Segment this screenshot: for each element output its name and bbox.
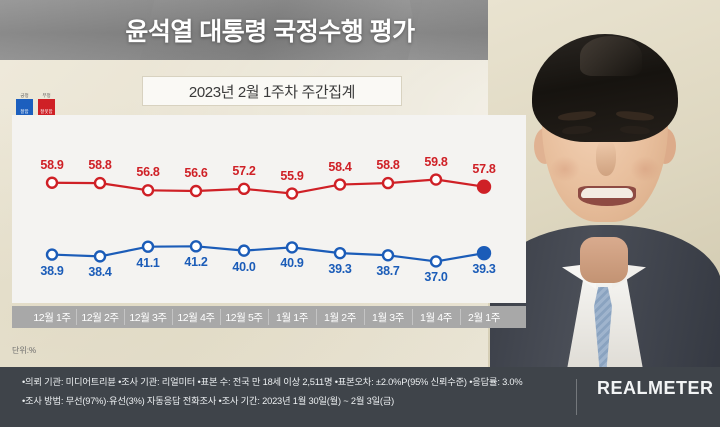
legend-label-negative: 잘못함: [40, 110, 52, 115]
data-label: 39.3: [472, 262, 495, 276]
axis-separator: [316, 309, 317, 325]
axis-tick-label: 1월 4주: [420, 306, 452, 328]
legend-item-negative: 부정 잘못함: [38, 99, 55, 115]
data-label: 40.0: [232, 260, 255, 274]
axis-tick-label: 2월 1주: [468, 306, 500, 328]
data-point: [143, 242, 153, 252]
data-point: [431, 175, 441, 185]
data-label: 41.1: [136, 256, 159, 270]
series-line-부정평가: [52, 180, 484, 194]
photo-cheek-left: [550, 156, 580, 182]
photo-teeth: [581, 188, 633, 198]
series-line-긍정평가: [52, 246, 484, 261]
axis-separator: [412, 309, 413, 325]
photo-hair-highlight: [580, 36, 642, 76]
axis-separator: [172, 309, 173, 325]
data-point: [95, 178, 105, 188]
legend-item-positive: 긍정 잘함: [16, 99, 33, 115]
data-label: 38.9: [40, 264, 63, 278]
data-label: 56.6: [184, 166, 207, 180]
data-label: 59.8: [424, 155, 447, 169]
data-point: [478, 247, 490, 259]
axis-separator: [124, 309, 125, 325]
chart-x-axis: 12월 1주12월 2주12월 3주12월 4주12월 5주1월 1주1월 2주…: [12, 306, 526, 328]
unit-label: 단위:%: [12, 345, 36, 356]
data-point: [383, 250, 393, 260]
legend-caption-positive: 긍정: [20, 94, 28, 99]
axis-tick-label: 12월 2주: [81, 306, 118, 328]
axis-tick-label: 12월 3주: [129, 306, 166, 328]
axis-separator: [364, 309, 365, 325]
data-point: [287, 189, 297, 199]
data-point: [95, 251, 105, 261]
data-label: 58.4: [328, 160, 351, 174]
legend-label-positive: 잘함: [20, 110, 28, 115]
data-point: [383, 178, 393, 188]
data-label: 55.9: [280, 169, 303, 183]
axis-tick-label: 1월 2주: [324, 306, 356, 328]
axis-separator: [76, 309, 77, 325]
data-point: [478, 181, 490, 193]
legend-caption-negative: 부정: [42, 94, 50, 99]
data-label: 56.8: [136, 165, 159, 179]
data-point: [431, 256, 441, 266]
photo-nose: [596, 140, 616, 176]
footer-divider: [576, 379, 577, 415]
chart-legend: 긍정 잘함 부정 잘못함: [16, 99, 55, 115]
data-point: [335, 248, 345, 258]
data-point: [287, 242, 297, 252]
axis-tick-label: 1월 1주: [276, 306, 308, 328]
data-label: 58.8: [88, 158, 111, 172]
photo-cheek-right: [630, 156, 660, 182]
chart-card: 58.958.856.856.657.255.958.458.859.857.8…: [12, 115, 526, 303]
realmeter-logo: REALMETER: [597, 378, 714, 399]
photo-mouth: [578, 186, 636, 206]
data-point: [143, 185, 153, 195]
data-point: [47, 250, 57, 260]
data-label: 57.2: [232, 164, 255, 178]
data-point: [47, 178, 57, 188]
data-label: 38.4: [88, 265, 111, 279]
data-label: 40.9: [280, 256, 303, 270]
data-point: [191, 241, 201, 251]
footer-methodology: •의뢰 기관: 미디어트리뷴 •조사 기관: 리얼미터 •표본 수: 전국 만 …: [22, 376, 522, 408]
data-label: 37.0: [424, 270, 447, 284]
footer-line-2: •조사 방법: 무선(97%)·유선(3%) 자동응답 전화조사 •조사 기간:…: [22, 395, 522, 408]
poll-infographic: 윤석열 대통령 국정수행 평가 긍정 잘함 부정 잘못함 2023년 2월 1주…: [0, 0, 720, 427]
photo-neck: [580, 237, 628, 283]
axis-tick-label: 12월 4주: [177, 306, 214, 328]
data-point: [239, 246, 249, 256]
data-point: [239, 184, 249, 194]
axis-tick-label: 12월 5주: [225, 306, 262, 328]
subtitle-pill: 2023년 2월 1주차 주간집계: [142, 76, 402, 106]
data-label: 58.9: [40, 158, 63, 172]
axis-tick-label: 1월 3주: [372, 306, 404, 328]
data-point: [335, 180, 345, 190]
axis-tick-label: 12월 1주: [33, 306, 70, 328]
data-point: [191, 186, 201, 196]
data-label: 58.8: [376, 158, 399, 172]
axis-separator: [460, 309, 461, 325]
footer-line-1: •의뢰 기관: 미디어트리뷴 •조사 기관: 리얼미터 •표본 수: 전국 만 …: [22, 376, 522, 389]
axis-separator: [268, 309, 269, 325]
data-label: 57.8: [472, 162, 495, 176]
data-label: 39.3: [328, 262, 351, 276]
data-label: 38.7: [376, 264, 399, 278]
axis-separator: [220, 309, 221, 325]
page-title: 윤석열 대통령 국정수행 평가: [0, 0, 540, 60]
data-label: 41.2: [184, 255, 207, 269]
